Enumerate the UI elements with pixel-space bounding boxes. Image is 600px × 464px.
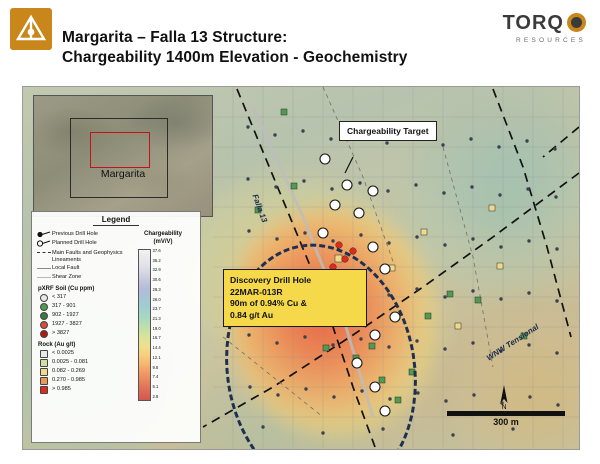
- legend-title-divider: [93, 225, 139, 226]
- discovery-line-2: 22MAR-013R: [230, 287, 360, 299]
- brand-logo: TORQ RESOURCES: [503, 12, 586, 44]
- legend-soil-class: 902 - 1927: [36, 311, 132, 320]
- ramp-tick: 23.7: [153, 307, 161, 311]
- legend-rock-class: 0.270 - 0.985: [36, 376, 132, 385]
- rock-swatch-icon: [36, 386, 52, 394]
- legend-label-rock-3: 0.270 - 0.985: [52, 377, 85, 384]
- discovery-line-4: 0.84 g/t Au: [230, 310, 360, 322]
- legend-soil-class: 317 - 901: [36, 302, 132, 311]
- legend-label-soil-4: > 3827: [52, 330, 69, 337]
- legend-label-local-fault: Local Fault: [52, 265, 79, 272]
- ramp-tick: 7.4: [153, 375, 161, 379]
- ramp-tick: 21.3: [153, 317, 161, 321]
- shear-zone-line-icon: [36, 277, 52, 278]
- location-inset-map[interactable]: Margarita: [33, 95, 213, 217]
- main-fault-line-icon: [36, 250, 52, 253]
- ramp-tick: 37.6: [153, 249, 161, 253]
- legend-label-rock-4: > 0.985: [52, 386, 71, 393]
- chargeability-color-ramp: [138, 249, 151, 401]
- torq-triangle-logo-icon: [10, 8, 52, 50]
- svg-text:N: N: [501, 404, 506, 409]
- legend-label-soil-0: < 317: [52, 294, 66, 301]
- soil-swatch-icon: [36, 330, 52, 338]
- discovery-line-3: 90m of 0.94% Cu &: [230, 298, 360, 310]
- legend-section-soil: pXRF Soil (Cu ppm): [38, 286, 132, 292]
- torq-circle-mark-icon: [567, 13, 586, 32]
- rock-swatch-icon: [36, 377, 52, 385]
- chargeability-ramp-title: Chargeability (mV/V): [132, 230, 194, 246]
- geology-map[interactable]: Falla 13 WNW Tensional Chargeability Tar…: [22, 86, 580, 450]
- legend-rock-class: 0.0025 - 0.081: [36, 358, 132, 367]
- ramp-tick: 16.7: [153, 336, 161, 340]
- legend-label-rock-2: 0.082 - 0.269: [52, 368, 85, 375]
- ramp-tick: 2.8: [153, 395, 161, 399]
- legend-label-main-faults: Main Faults and Geophysics Lineaments: [52, 250, 132, 264]
- inset-property-label: Margarita: [101, 168, 145, 180]
- legend-label-soil-3: 1927 - 3827: [52, 321, 82, 328]
- ramp-tick: 26.0: [153, 298, 161, 302]
- page-title-line1: Margarita – Falla 13 Structure:: [62, 29, 287, 46]
- page-title: Margarita – Falla 13 Structure: Chargeab…: [62, 28, 408, 68]
- ramp-tick: 35.2: [153, 259, 161, 263]
- ramp-tick: 5.1: [153, 385, 161, 389]
- brand-name: TORQ: [503, 12, 564, 35]
- chargeability-target-callout: Chargeability Target: [339, 121, 437, 141]
- rock-swatch-icon: [36, 350, 52, 358]
- discovery-line-1: Discovery Drill Hole: [230, 275, 360, 287]
- soil-swatch-icon: [36, 294, 52, 302]
- legend-label-shear-zone: Shear Zone: [52, 274, 81, 281]
- legend-soil-class: 1927 - 3827: [36, 320, 132, 329]
- legend-item-main-faults: Main Faults and Geophysics Lineaments: [36, 250, 132, 264]
- legend-item-local-fault: Local Fault: [36, 264, 132, 273]
- inset-current-extent-box: [90, 132, 150, 168]
- legend-symbols-column: Previous Drill Hole Planned Drill Hole M…: [36, 230, 132, 401]
- page-title-line2: Chargeability 1400m Elevation - Geochemi…: [62, 48, 408, 68]
- ramp-tick: 30.6: [153, 278, 161, 282]
- legend-label-rock-1: 0.0025 - 0.081: [52, 359, 88, 366]
- legend-soil-class: > 3827: [36, 329, 132, 338]
- chargeability-ramp-ticks: 37.6 35.2 32.9 30.6 28.3 26.0 23.7 21.3 …: [153, 249, 161, 399]
- legend-rock-class: < 0.0025: [36, 349, 132, 358]
- legend-item-shear-zone: Shear Zone: [36, 273, 132, 282]
- soil-swatch-icon: [36, 303, 52, 311]
- scale-bar-label: 300 m: [447, 417, 565, 427]
- rock-swatch-icon: [36, 359, 52, 367]
- legend-title: Legend: [32, 215, 200, 224]
- ramp-tick: 9.8: [153, 366, 161, 370]
- previous-drill-hole-icon: [36, 230, 52, 239]
- ramp-tick: 12.1: [153, 356, 161, 360]
- legend-section-rock: Rock (Au g/t): [38, 342, 132, 348]
- ramp-tick: 32.9: [153, 268, 161, 272]
- scale-bar: 300 m: [447, 411, 565, 427]
- ramp-tick: 14.4: [153, 346, 161, 350]
- north-arrow-icon: N: [497, 383, 511, 409]
- legend-chargeability-column: Chargeability (mV/V) 37.6 35.2 32.9 30.6…: [132, 230, 194, 401]
- soil-swatch-icon: [36, 321, 52, 329]
- rock-swatch-icon: [36, 368, 52, 376]
- chargeability-ramp-title-line1: Chargeability: [144, 231, 182, 237]
- planned-drill-hole-icon: [36, 239, 52, 248]
- legend-label-soil-1: 317 - 901: [52, 303, 76, 310]
- ramp-tick: 19.0: [153, 327, 161, 331]
- scale-bar-graphic: [447, 411, 565, 416]
- local-fault-line-icon: [36, 268, 52, 269]
- brand-subtitle: RESOURCES: [503, 37, 586, 44]
- chargeability-ramp-title-line2: (mV/V): [153, 239, 172, 245]
- discovery-drill-hole-callout: Discovery Drill Hole 22MAR-013R 90m of 0…: [223, 269, 367, 327]
- legend-label-planned-drill-hole: Planned Drill Hole: [52, 240, 97, 247]
- legend-label-rock-0: < 0.0025: [52, 350, 74, 357]
- ramp-tick: 28.3: [153, 288, 161, 292]
- legend-item-planned-drill-hole: Planned Drill Hole: [36, 239, 132, 248]
- legend-rock-class: 0.082 - 0.269: [36, 367, 132, 376]
- map-legend: Legend Previous Drill Hole Planned Drill…: [31, 211, 201, 443]
- legend-soil-class: < 317: [36, 293, 132, 302]
- soil-swatch-icon: [36, 312, 52, 320]
- legend-label-soil-2: 902 - 1927: [52, 312, 79, 319]
- legend-label-previous-drill-hole: Previous Drill Hole: [52, 231, 98, 238]
- legend-item-previous-drill-hole: Previous Drill Hole: [36, 230, 132, 239]
- legend-rock-class: > 0.985: [36, 385, 132, 394]
